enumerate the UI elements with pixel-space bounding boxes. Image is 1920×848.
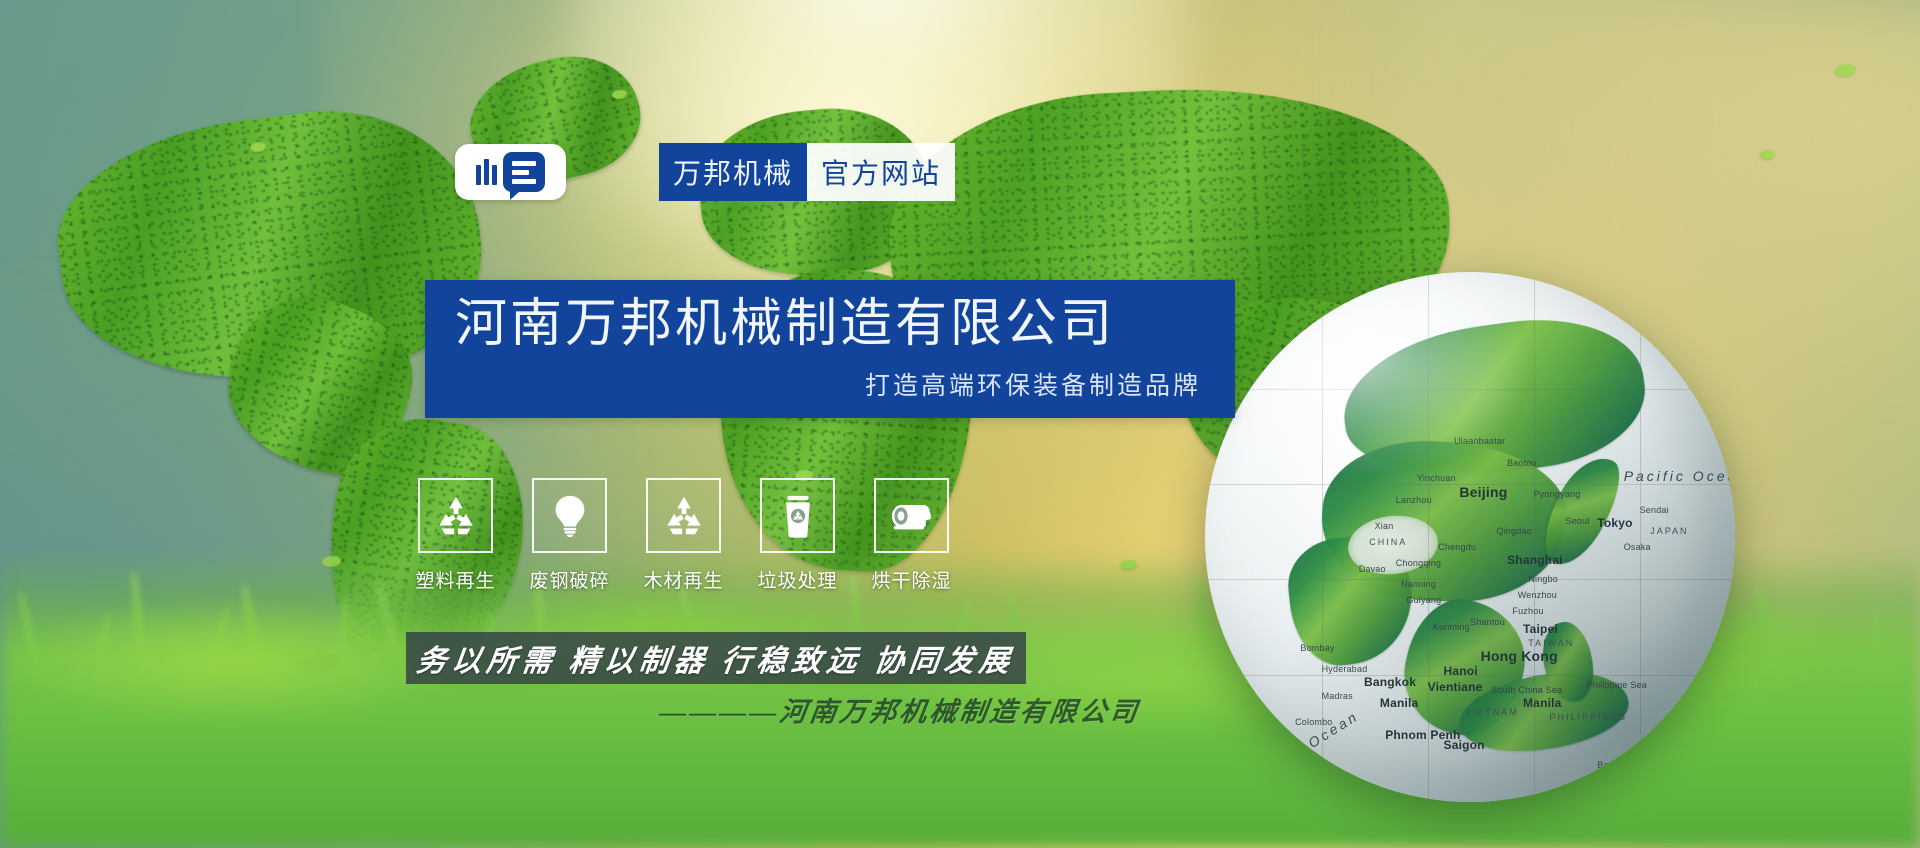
- globe-label: CHINA: [1369, 537, 1407, 547]
- wb-logo-icon[interactable]: [455, 144, 566, 200]
- globe-label: Fuzhou: [1512, 606, 1543, 616]
- globe-label: Ningbo: [1528, 574, 1558, 584]
- logo-b-speech-bubble-icon: [503, 152, 545, 192]
- globe-label: Bombay: [1300, 643, 1334, 653]
- globe-label: Vientiane: [1428, 680, 1483, 694]
- globe-label: Manila: [1380, 696, 1419, 710]
- globe-label: Chongqing: [1396, 558, 1441, 568]
- slogan-banner: 务以所需 精以制器 行稳致远 协同发展: [406, 632, 1026, 684]
- feature-item-waste-treatment[interactable]: 垃圾处理: [760, 478, 835, 593]
- globe-label: Baotou: [1507, 458, 1537, 468]
- globe-label: Bandung: [1597, 760, 1634, 770]
- lightbulb-icon: [532, 478, 607, 553]
- globe-label: Sendai: [1640, 505, 1669, 515]
- globe-label: Pyongyang: [1534, 489, 1581, 499]
- recycle-icon: [418, 478, 493, 553]
- globe-label: Lanzhou: [1396, 495, 1432, 505]
- hero-banner: Ulaanbaatar Beijing Pyongyang Yinchuan L…: [0, 0, 1920, 848]
- globe-label: Hanoi: [1444, 664, 1478, 678]
- globe-label: JAPAN: [1650, 526, 1688, 536]
- feature-label: 木材再生: [644, 566, 724, 593]
- globe-label: Philippine Sea: [1587, 680, 1647, 690]
- globe-label: Hong Kong: [1481, 648, 1558, 664]
- globe-label: Ulaanbaatar: [1454, 436, 1505, 446]
- globe-graphic: Ulaanbaatar Beijing Pyongyang Yinchuan L…: [1205, 272, 1735, 802]
- globe-label: Guiyang: [1406, 595, 1441, 605]
- globe-label: Qingdao: [1497, 526, 1532, 536]
- globe-label: Seoul: [1565, 516, 1589, 526]
- globe-label: Pacific Ocean: [1624, 468, 1735, 484]
- globe-label: Bangkok: [1364, 675, 1416, 689]
- feature-label: 垃圾处理: [758, 566, 838, 593]
- globe-label: TAIWAN: [1528, 638, 1574, 648]
- dryer-machine-icon: [874, 478, 949, 553]
- globe-label: VIETNAM: [1465, 707, 1519, 717]
- globe-label: Tokyo: [1597, 516, 1632, 530]
- globe-label: Nanning: [1401, 579, 1436, 589]
- feature-item-plastic-recycling[interactable]: 塑料再生: [418, 478, 493, 593]
- feature-item-drying-dehumidifying[interactable]: 烘干除湿: [874, 478, 949, 593]
- brand-chip-official-site[interactable]: 官方网站: [807, 143, 955, 201]
- feature-label: 废钢破碎: [530, 566, 610, 593]
- globe-label: Yinchuan: [1417, 473, 1456, 483]
- globe-label: South China Sea: [1491, 685, 1562, 695]
- page-title: 河南万邦机械制造有限公司: [425, 296, 1235, 353]
- feature-icon-row: 塑料再生 废钢破碎: [418, 478, 949, 593]
- trash-bin-icon: [760, 478, 835, 553]
- feature-item-wood-recycling[interactable]: 木材再生: [646, 478, 721, 593]
- slogan-signature: ————河南万邦机械制造有限公司: [657, 690, 1142, 729]
- globe-label: Madras: [1322, 691, 1353, 701]
- feature-label: 烘干除湿: [872, 566, 952, 593]
- company-title-panel: 河南万邦机械制造有限公司 打造高端环保装备制造品牌: [425, 280, 1235, 418]
- globe-label: Beijing: [1459, 484, 1507, 500]
- globe-label: Shantou: [1470, 617, 1505, 627]
- tagline: 打造高端环保装备制造品牌: [425, 366, 1235, 402]
- globe-label: Xian: [1375, 521, 1394, 531]
- recycle-icon: [646, 478, 721, 553]
- globe-label: PHILIPPINES: [1550, 712, 1628, 722]
- feature-item-scrap-steel-crushing[interactable]: 废钢破碎: [532, 478, 607, 593]
- globe-label: Saigon: [1444, 738, 1485, 752]
- feature-label: 塑料再生: [416, 566, 496, 593]
- globe-label: Wenzhou: [1518, 590, 1557, 600]
- logo-w-mark: [476, 159, 497, 185]
- globe-sphere: Ulaanbaatar Beijing Pyongyang Yinchuan L…: [1205, 272, 1735, 802]
- globe-label: Hyderabad: [1322, 664, 1368, 674]
- leaf-speck: [1835, 64, 1855, 76]
- globe-label: Manila: [1523, 696, 1562, 710]
- globe-label: Osaka: [1624, 542, 1651, 552]
- globe-label: Chengdu: [1438, 542, 1476, 552]
- brand-chip-company[interactable]: 万邦机械: [659, 143, 807, 201]
- brand-header: 万邦机械 官方网站: [455, 143, 955, 201]
- globe-label: Davao: [1359, 564, 1386, 574]
- leaf-speck: [1760, 150, 1774, 159]
- globe-label: Taipei: [1523, 622, 1558, 636]
- globe-label: Shanghai: [1507, 553, 1563, 567]
- globe-label: Kunming: [1433, 622, 1470, 632]
- slogan-text: 务以所需 精以制器 行稳致远 协同发展: [415, 636, 1018, 680]
